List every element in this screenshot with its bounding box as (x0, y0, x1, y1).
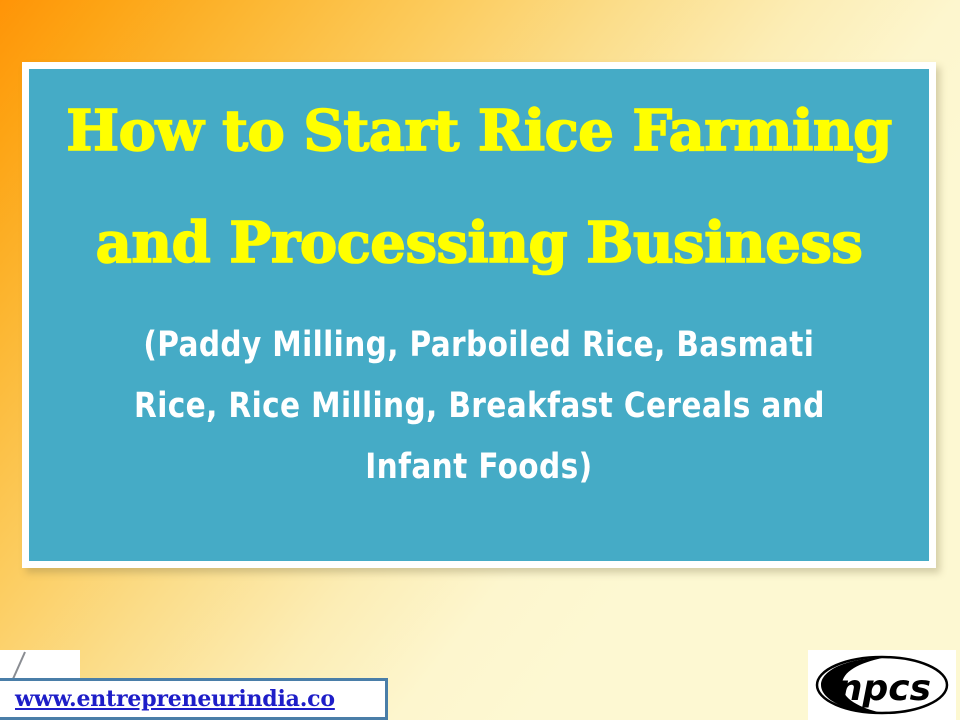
slide-subtitle-line-3: Infant Foods) (365, 450, 592, 485)
slide-subtitle-line-2: Rice, Rice Milling, Breakfast Cereals an… (134, 389, 825, 424)
npcs-logo: npcs (808, 650, 956, 720)
slide-title-line-1: How to Start Rice Farming (66, 103, 892, 160)
slide-title-line-2: and Processing Business (96, 215, 863, 272)
title-panel: How to Start Rice Farming and Processing… (22, 62, 936, 568)
npcs-logo-graphic: npcs (808, 650, 956, 720)
presentation-slide: How to Start Rice Farming and Processing… (0, 0, 960, 720)
npcs-wordmark: npcs (837, 668, 931, 709)
website-url-link[interactable]: www.entrepreneurindia.co (15, 686, 335, 712)
website-url-box[interactable]: www.entrepreneurindia.co (0, 678, 388, 720)
title-panel-inner: How to Start Rice Farming and Processing… (29, 69, 929, 561)
slide-subtitle-line-1: (Paddy Milling, Parboiled Rice, Basmati (144, 328, 815, 363)
